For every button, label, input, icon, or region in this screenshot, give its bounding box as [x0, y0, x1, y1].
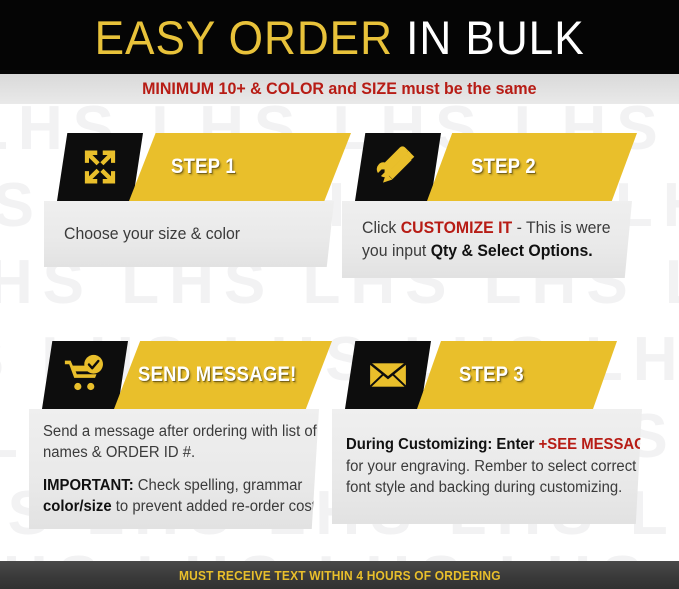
card-body: Send a message after ordering with list … — [29, 409, 319, 529]
body-line: Send a message after ordering with list … — [43, 421, 295, 442]
card-header: STEP 3 — [345, 341, 645, 409]
card-step-2: STEP 2 Click CUSTOMIZE IT - This is were… — [355, 133, 640, 278]
card-body: Choose your size & color — [44, 201, 334, 267]
body-line: font style and backing during customizin… — [346, 477, 617, 498]
body-line: color/size to prevent added re-order cos… — [43, 496, 295, 517]
body-segment-emphasis: +SEE MESSAGE+ — [539, 436, 665, 453]
body-segment: - This is were — [512, 219, 610, 237]
card-step-label: SEND MESSAGE! — [138, 363, 296, 387]
page-title-white: IN BULK — [393, 11, 585, 64]
body-segment: for your engraving. Rember to select cor… — [346, 458, 636, 475]
card-header-banner: SEND MESSAGE! — [114, 341, 332, 409]
card-body: Click CUSTOMIZE IT - This is were you in… — [342, 201, 632, 278]
card-header: STEP 2 — [355, 133, 640, 201]
card-step-label: STEP 1 — [171, 155, 236, 179]
body-segment: names & ORDER ID #. — [43, 444, 195, 461]
page-title: EASY ORDER IN BULK — [95, 10, 585, 65]
body-line: Choose your size & color — [64, 223, 304, 246]
body-segment-emphasis: CUSTOMIZE IT — [401, 219, 512, 237]
body-line: Click CUSTOMIZE IT - This is were — [362, 217, 602, 240]
body-segment-bold: During Customizing: Enter — [346, 436, 539, 453]
card-header-banner: STEP 3 — [417, 341, 617, 409]
body-line: for your engraving. Rember to select cor… — [346, 456, 617, 477]
page-title-gold: EASY ORDER — [95, 11, 393, 64]
card-send-message: SEND MESSAGE! Send a message after order… — [42, 341, 332, 529]
footer-text: MUST RECEIVE TEXT WITHIN 4 HOURS OF ORDE… — [179, 568, 501, 583]
body-line: During Customizing: Enter +SEE MESSAGE+ — [346, 434, 617, 455]
body-line: you input Qty & Select Options. — [362, 240, 602, 263]
card-body: During Customizing: Enter +SEE MESSAGE+ … — [332, 409, 642, 524]
footer-banner: MUST RECEIVE TEXT WITHIN 4 HOURS OF ORDE… — [0, 561, 679, 589]
envelope-icon — [345, 341, 431, 409]
body-segment: font style and backing during customizin… — [346, 479, 622, 496]
body-segment: Check spelling, grammar — [134, 477, 303, 494]
body-segment-bold: IMPORTANT: — [43, 477, 134, 494]
body-segment: to prevent added re-order cost. — [112, 498, 320, 515]
subtitle-banner: MINIMUM 10+ & COLOR and SIZE must be the… — [0, 74, 679, 104]
subtitle-text: MINIMUM 10+ & COLOR and SIZE must be the… — [142, 80, 536, 99]
cart-check-icon — [42, 341, 128, 409]
card-step-1: STEP 1 Choose your size & color — [57, 133, 347, 267]
body-segment-bold: color/size — [43, 498, 112, 515]
card-header: SEND MESSAGE! — [42, 341, 332, 409]
card-step-label: STEP 3 — [459, 363, 524, 387]
wrench-pencil-icon — [355, 133, 441, 201]
card-header-banner: STEP 2 — [427, 133, 637, 201]
card-step-label: STEP 2 — [471, 155, 536, 179]
body-line: names & ORDER ID #. — [43, 442, 295, 463]
expand-arrows-icon — [57, 133, 143, 201]
header-banner: EASY ORDER IN BULK — [0, 0, 679, 74]
body-segment: Click — [362, 219, 401, 237]
card-step-3: STEP 3 During Customizing: Enter +SEE ME… — [345, 341, 645, 524]
body-line: IMPORTANT: Check spelling, grammar — [43, 475, 295, 496]
body-segment: you input — [362, 242, 431, 260]
body-segment-bold: Qty & Select Options. — [431, 242, 593, 260]
body-segment: Send a message after ordering with list … — [43, 423, 317, 440]
card-header-banner: STEP 1 — [129, 133, 351, 201]
card-header: STEP 1 — [57, 133, 347, 201]
body-segment: Choose your size & color — [64, 225, 240, 243]
